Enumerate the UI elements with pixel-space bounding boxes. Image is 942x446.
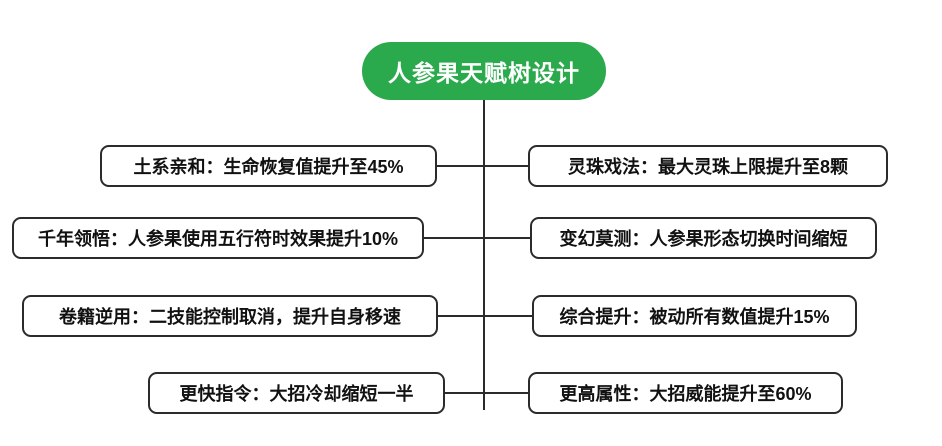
- right-node-3-label: 综合提升：被动所有数值提升15%: [547, 303, 841, 329]
- left-node-3-label: 卷籍逆用：二技能控制取消，提升自身移速: [47, 303, 413, 329]
- left-node-4-label: 更快指令：大招冷却缩短一半: [168, 380, 426, 406]
- root-node[interactable]: 人参果天赋树设计: [362, 42, 606, 100]
- left-node-2-label: 千年领悟：人参果使用五行符时效果提升10%: [26, 225, 410, 251]
- right-node-2-label: 变幻莫测：人参果形态切换时间缩短: [548, 225, 860, 251]
- right-node-1[interactable]: 灵珠戏法：最大灵珠上限提升至8颗: [528, 145, 888, 187]
- left-node-1[interactable]: 土系亲和：生命恢复值提升至45%: [100, 145, 437, 187]
- left-node-2[interactable]: 千年领悟：人参果使用五行符时效果提升10%: [12, 217, 424, 259]
- right-node-4[interactable]: 更高属性：大招威能提升至60%: [528, 372, 843, 414]
- left-node-3[interactable]: 卷籍逆用：二技能控制取消，提升自身移速: [22, 295, 438, 337]
- left-node-4[interactable]: 更快指令：大招冷却缩短一半: [148, 372, 445, 414]
- root-node-label: 人参果天赋树设计: [388, 54, 580, 88]
- right-node-4-label: 更高属性：大招威能提升至60%: [547, 380, 823, 406]
- left-node-1-label: 土系亲和：生命恢复值提升至45%: [121, 153, 415, 179]
- mindmap-canvas: 人参果天赋树设计 土系亲和：生命恢复值提升至45% 千年领悟：人参果使用五行符时…: [0, 0, 942, 446]
- right-node-3[interactable]: 综合提升：被动所有数值提升15%: [532, 295, 857, 337]
- right-node-2[interactable]: 变幻莫测：人参果形态切换时间缩短: [530, 217, 877, 259]
- right-node-1-label: 灵珠戏法：最大灵珠上限提升至8颗: [556, 153, 860, 179]
